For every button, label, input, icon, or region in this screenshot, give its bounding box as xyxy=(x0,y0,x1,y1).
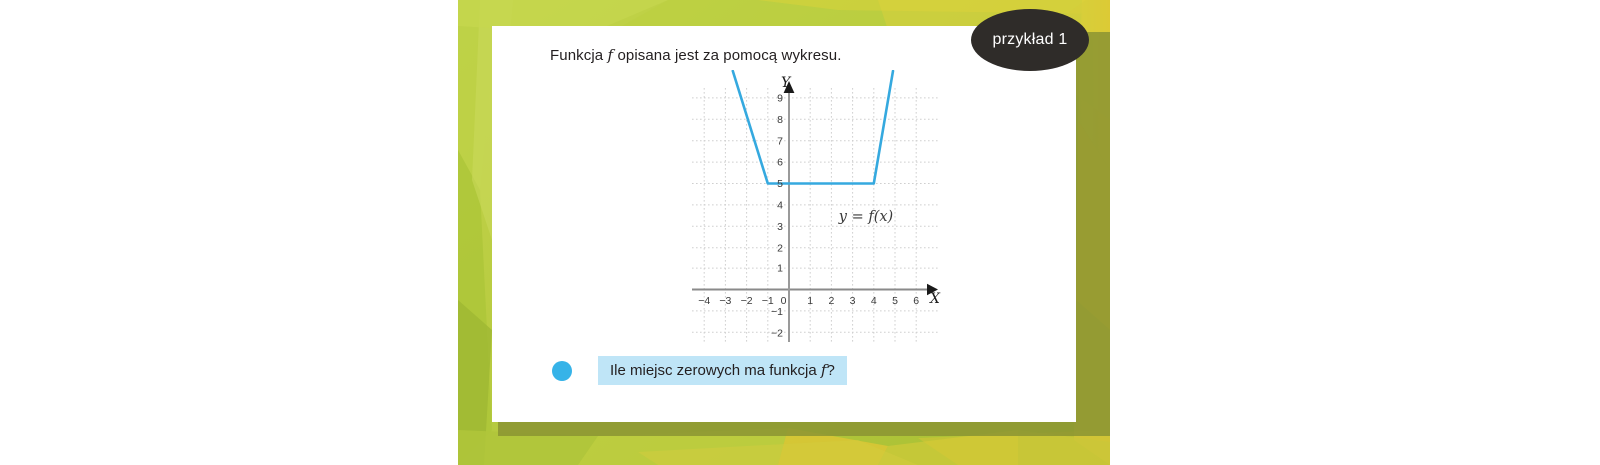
y-tick-label: 8 xyxy=(777,114,783,126)
question-before: Ile miejsc zerowych ma funkcja xyxy=(610,362,817,379)
example-badge-label: przykład 1 xyxy=(993,31,1068,49)
y-tick-label: 7 xyxy=(777,135,783,147)
x-tick-label: 4 xyxy=(871,295,877,307)
y-tick-label: 3 xyxy=(777,221,783,233)
x-axis-title: X xyxy=(929,291,941,307)
prompt-function-symbol: f xyxy=(608,46,614,64)
y-tick-label: 2 xyxy=(777,242,783,254)
curve-y-equals-f-of-x xyxy=(733,71,893,184)
function-graph: Y X −4 −3 −2 −1 0 1 2 3 4 5 6 xyxy=(688,70,942,345)
function-graph-svg: Y X −4 −3 −2 −1 0 1 2 3 4 5 6 xyxy=(688,70,942,345)
slide: Funkcja f opisana jest za pomocą wykresu… xyxy=(458,0,1110,465)
x-tick-label: −2 xyxy=(741,295,753,307)
x-tick-label: 2 xyxy=(828,295,834,307)
x-tick-label: −3 xyxy=(719,295,731,307)
y-tick-label: 4 xyxy=(777,200,783,212)
x-tick-label: 1 xyxy=(807,295,813,307)
example-badge: przykład 1 xyxy=(971,9,1089,71)
question-row: Ile miejsc zerowych ma funkcja f? xyxy=(552,356,847,385)
y-tick-label: −1 xyxy=(771,306,783,318)
bullet-icon xyxy=(552,361,572,381)
prompt-text: Funkcja f opisana jest za pomocą wykresu… xyxy=(550,46,842,64)
x-tick-labels: −4 −3 −2 −1 0 1 2 3 4 5 6 xyxy=(698,295,919,307)
y-tick-label: 1 xyxy=(777,263,783,275)
prompt-before: Funkcja xyxy=(550,47,603,64)
x-tick-label: 6 xyxy=(913,295,919,307)
y-tick-label: 6 xyxy=(777,157,783,169)
x-tick-label: 5 xyxy=(892,295,898,307)
x-tick-label: 3 xyxy=(850,295,856,307)
curve-equation-label: y = f(x) xyxy=(838,209,893,225)
y-tick-label: −2 xyxy=(771,327,783,339)
prompt-after: opisana jest za pomocą wykresu. xyxy=(617,47,841,64)
y-tick-label: 5 xyxy=(777,178,783,190)
x-tick-label: −4 xyxy=(698,295,710,307)
screenshot-root: Funkcja f opisana jest za pomocą wykresu… xyxy=(0,0,1600,465)
y-tick-label: 9 xyxy=(777,93,783,105)
question-after: ? xyxy=(826,362,834,379)
content-card: Funkcja f opisana jest za pomocą wykresu… xyxy=(492,26,1076,422)
question-text: Ile miejsc zerowych ma funkcja f? xyxy=(598,356,847,385)
